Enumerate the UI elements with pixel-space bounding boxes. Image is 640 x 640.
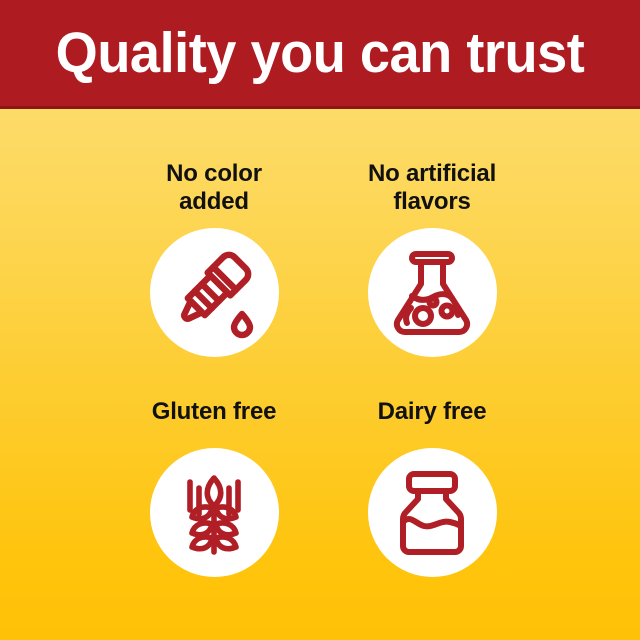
header-banner-rule <box>0 106 640 109</box>
icon-circle <box>368 448 497 577</box>
feature-label: Dairy free <box>378 398 487 426</box>
feature-label: No color added <box>166 160 262 216</box>
feature-gluten-free: Gluten free <box>89 398 339 577</box>
page-title: Quality you can trust <box>16 0 624 106</box>
feature-dairy-free: Dairy free <box>307 398 557 577</box>
icon-circle <box>150 448 279 577</box>
icon-circle <box>150 228 279 357</box>
flask-icon <box>386 246 478 338</box>
feature-no-color-added: No color added <box>89 160 339 357</box>
icon-circle <box>368 228 497 357</box>
feature-no-artificial-flavors: No artificial flavors <box>307 160 557 357</box>
wheat-icon <box>168 466 260 558</box>
feature-label: Gluten free <box>152 398 277 426</box>
feature-label: No artificial flavors <box>368 160 496 216</box>
milk-bottle-icon <box>388 468 476 556</box>
dropper-icon <box>166 244 262 340</box>
quality-badges-graphic: Quality you can trust No color added <box>0 0 640 640</box>
